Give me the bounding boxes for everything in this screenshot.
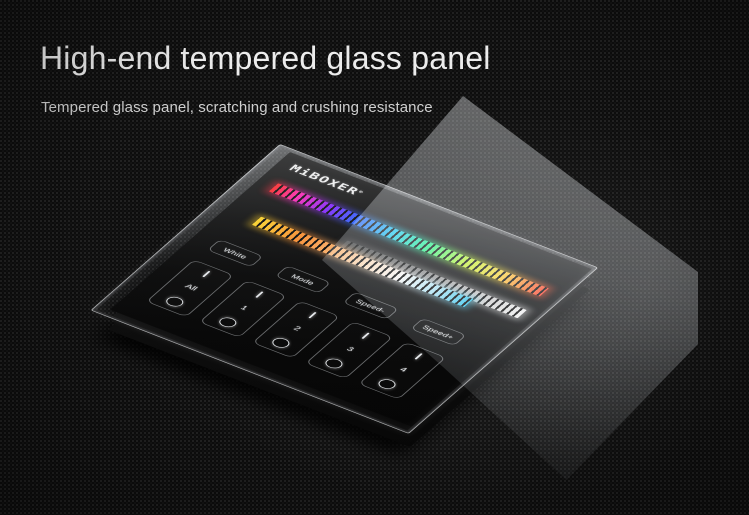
page-title: High-end tempered glass panel bbox=[40, 40, 491, 77]
promo-banner: High-end tempered glass panel Tempered g… bbox=[0, 0, 749, 515]
glass-pane bbox=[90, 144, 598, 434]
wall-panel-device: MiBOXER® White bbox=[228, 96, 698, 496]
